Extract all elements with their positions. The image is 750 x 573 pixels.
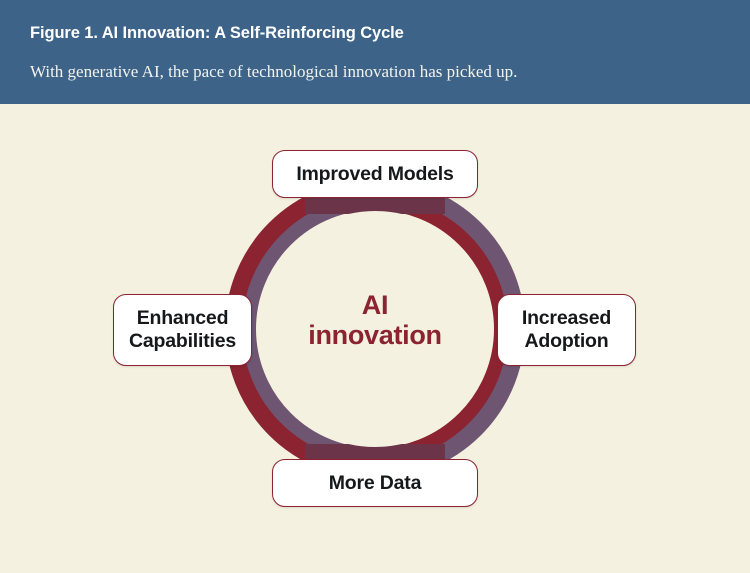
- cycle-node-increased-adoption[interactable]: Increased Adoption: [497, 294, 636, 366]
- figure-container: Figure 1. AI Innovation: A Self-Reinforc…: [0, 0, 750, 573]
- cycle-node-top-label: Improved Models: [296, 163, 453, 186]
- cycle-node-left-label-line1: Enhanced: [129, 307, 236, 330]
- cycle-node-right-label-line1: Increased: [522, 307, 611, 330]
- cycle-node-right-text: Increased Adoption: [522, 307, 611, 353]
- cycle-node-improved-models[interactable]: Improved Models: [272, 150, 478, 198]
- cycle-node-left-text: Enhanced Capabilities: [129, 307, 236, 353]
- diagram-canvas: AI innovation Improved Models Increased …: [0, 104, 750, 573]
- center-label-line1: AI: [275, 290, 475, 320]
- cycle-node-enhanced-capabilities[interactable]: Enhanced Capabilities: [113, 294, 252, 366]
- cycle-node-right-label-line2: Adoption: [522, 330, 611, 353]
- figure-title: Figure 1. AI Innovation: A Self-Reinforc…: [30, 24, 404, 43]
- figure-subtitle: With generative AI, the pace of technolo…: [30, 62, 517, 82]
- center-label-line2: innovation: [275, 320, 475, 350]
- figure-header: Figure 1. AI Innovation: A Self-Reinforc…: [0, 0, 750, 104]
- cycle-node-bottom-label: More Data: [329, 472, 421, 495]
- cycle-node-more-data[interactable]: More Data: [272, 459, 478, 507]
- center-label: AI innovation: [275, 290, 475, 350]
- cycle-node-left-label-line2: Capabilities: [129, 330, 236, 353]
